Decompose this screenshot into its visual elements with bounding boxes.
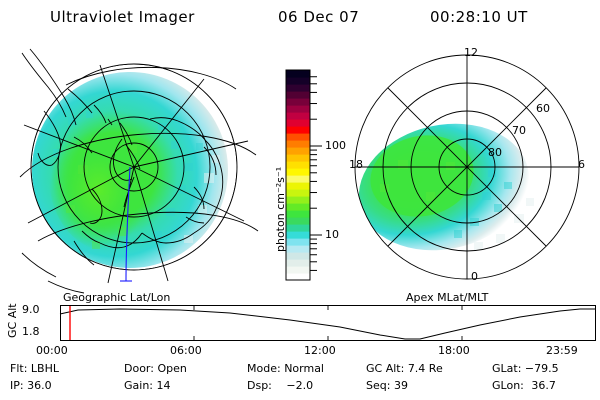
colorbar-band	[286, 77, 310, 85]
mlat-label-60: 60	[536, 102, 550, 115]
colorbar-band	[286, 238, 310, 246]
mlt-label-12: 12	[464, 46, 478, 59]
orbit-xtick-1200: 12:00	[304, 344, 336, 357]
colorbar-minor-ticks	[310, 77, 317, 271]
status-gcalt-label: GC Alt:	[366, 362, 404, 375]
status-gain-value: 14	[157, 379, 171, 392]
orbit-xtick-0000: 00:00	[36, 344, 68, 357]
colorbar-band	[286, 210, 310, 218]
status-mode: Mode: Normal	[247, 362, 324, 375]
status-flt-value: LBHL	[31, 362, 59, 375]
colorbar-band	[286, 252, 310, 260]
status-ip-label: IP:	[10, 379, 24, 392]
status-door-value: Open	[157, 362, 186, 375]
colorbar-band	[286, 189, 310, 197]
colorbar-band	[286, 182, 310, 190]
right-panel-caption: Apex MLat/MLT	[406, 291, 488, 304]
status-seq: Seq: 39	[366, 379, 408, 392]
mlt-spokes	[355, 55, 579, 279]
colorbar-band	[286, 196, 310, 204]
uvi-display: Ultraviolet Imager 06 Dec 07 00:28:10 UT	[0, 0, 600, 400]
orbit-xtick-1800: 18:00	[438, 344, 470, 357]
status-glon-value: 36.7	[531, 379, 556, 392]
status-seq-value: 39	[394, 379, 408, 392]
colorbar-band	[286, 91, 310, 99]
geographic-panel	[8, 45, 260, 293]
colorbar-band	[286, 203, 310, 211]
mlat-label-80: 80	[488, 146, 502, 159]
status-glat: GLat: −79.5	[492, 362, 559, 375]
status-glat-label: GLat:	[492, 362, 521, 375]
colorbar-band	[286, 266, 310, 274]
status-door: Door: Open	[124, 362, 187, 375]
status-glat-value: −79.5	[525, 362, 559, 375]
orbit-ytick-min: 1.8	[22, 325, 40, 338]
orbit-ytick-max: 9.0	[22, 303, 40, 316]
colorbar-band	[286, 147, 310, 155]
colorbar-band	[286, 98, 310, 106]
orbit-xtick-0600: 06:00	[170, 344, 202, 357]
mlt-label-6: 6	[578, 158, 585, 171]
colorbar-band	[286, 105, 310, 113]
status-door-label: Door:	[124, 362, 154, 375]
orbit-tick-marks	[61, 306, 596, 341]
left-panel-caption: Geographic Lat/Lon	[63, 291, 170, 304]
colorbar-band	[286, 126, 310, 134]
colorbar-band	[286, 119, 310, 127]
colorbar-band	[286, 168, 310, 176]
colorbar-band	[286, 273, 310, 281]
colorbar-band	[286, 140, 310, 148]
status-flt: Flt: LBHL	[10, 362, 59, 375]
colorbar-band	[286, 112, 310, 120]
status-gcalt: GC Alt: 7.4 Re	[366, 362, 443, 375]
mlt-label-18: 18	[349, 158, 363, 171]
status-mode-value: Normal	[284, 362, 324, 375]
status-glon: GLon: 36.7	[492, 379, 556, 392]
status-gain: Gain: 14	[124, 379, 171, 392]
orbit-strip-chart[interactable]	[60, 305, 596, 341]
status-ip: IP: 36.0	[10, 379, 52, 392]
mlat-label-70: 70	[512, 124, 526, 137]
colorbar-band	[286, 224, 310, 232]
status-flt-label: Flt:	[10, 362, 27, 375]
mlt-label-0: 0	[471, 270, 478, 283]
observation-time: 00:28:10 UT	[430, 8, 528, 26]
colorbar	[240, 62, 350, 290]
colorbar-band	[286, 245, 310, 253]
status-gcalt-value: 7.4 Re	[408, 362, 443, 375]
orbit-altitude-trace	[60, 309, 595, 339]
colorbar-band	[286, 217, 310, 225]
colorbar-band	[286, 84, 310, 92]
status-mode-label: Mode:	[247, 362, 281, 375]
status-seq-label: Seq:	[366, 379, 390, 392]
status-ip-value: 36.0	[27, 379, 52, 392]
observation-date: 06 Dec 07	[278, 8, 359, 26]
status-bar: Flt: LBHL Door: Open Mode: Normal GC Alt…	[10, 362, 590, 396]
instrument-title: Ultraviolet Imager	[50, 8, 195, 26]
orbit-y-axis-label: GC Alt	[6, 303, 19, 338]
status-dsp-label: Dsp:	[247, 379, 272, 392]
colorbar-axis-label: photon cm⁻²s⁻¹	[274, 167, 287, 252]
colorbar-band	[286, 154, 310, 162]
colorbar-band	[286, 70, 310, 78]
status-dsp: Dsp: −2.0	[247, 379, 313, 392]
colorbar-band	[286, 231, 310, 239]
colorbar-gradient	[286, 70, 310, 281]
colorbar-band	[286, 161, 310, 169]
orbit-xtick-2359: 23:59	[546, 344, 578, 357]
status-glon-label: GLon:	[492, 379, 524, 392]
status-gain-label: Gain:	[124, 379, 153, 392]
status-dsp-value: −2.0	[286, 379, 313, 392]
colorbar-band	[286, 133, 310, 141]
apex-panel	[336, 42, 598, 292]
colorbar-band	[286, 259, 310, 267]
colorbar-band	[286, 175, 310, 183]
